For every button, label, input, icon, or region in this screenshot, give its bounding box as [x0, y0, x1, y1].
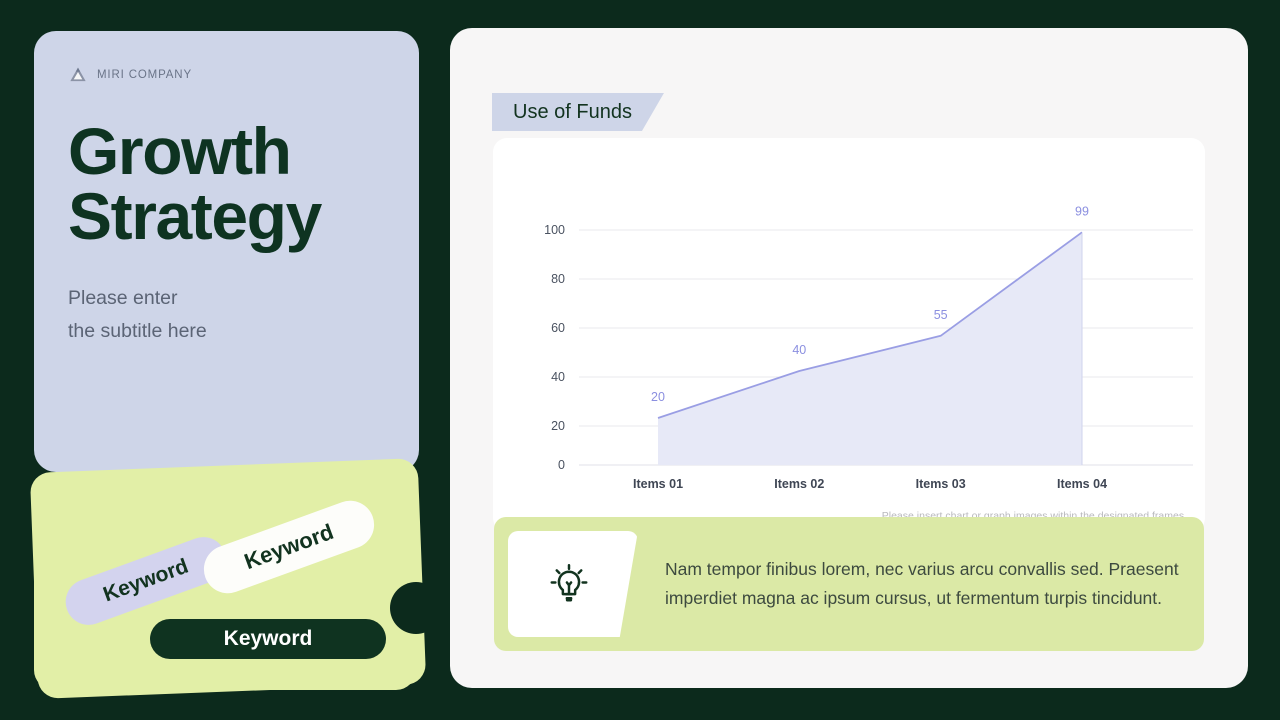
section-tag: Use of Funds [492, 93, 664, 131]
keyword-pill-dark[interactable]: Keyword [150, 619, 386, 659]
section-tag-label: Use of Funds [513, 101, 632, 124]
svg-text:Items 01: Items 01 [633, 477, 683, 491]
svg-text:20: 20 [651, 390, 665, 404]
area-chart[interactable]: 100 80 60 40 20 0 20 40 55 [493, 138, 1205, 532]
callout-icon-card [508, 531, 638, 637]
callout-text: Nam tempor finibus lorem, nec varius arc… [638, 517, 1204, 651]
svg-text:40: 40 [792, 343, 806, 357]
content-panel: Use of Funds 100 80 60 40 [450, 28, 1248, 688]
svg-text:40: 40 [551, 370, 565, 384]
keyword-pill-white[interactable]: Keyword [197, 494, 381, 600]
lightbulb-icon [546, 561, 592, 607]
triangle-logo-icon [68, 65, 88, 85]
chart-x-axis: Items 01 Items 02 Items 03 Items 04 [633, 477, 1107, 491]
svg-text:60: 60 [551, 321, 565, 335]
brand-row: MIRI COMPANY [68, 65, 385, 85]
page-title: Growth Strategy [68, 119, 385, 250]
svg-text:Items 04: Items 04 [1057, 477, 1107, 491]
svg-text:Items 02: Items 02 [774, 477, 824, 491]
chart-area-fill [658, 232, 1082, 465]
callout-box: Nam tempor finibus lorem, nec varius arc… [494, 517, 1204, 651]
svg-text:Items 03: Items 03 [916, 477, 966, 491]
page-title-line1: Growth [68, 114, 291, 188]
left-column: MIRI COMPANY Growth Strategy Please ente… [0, 0, 440, 720]
keyword-card: Keyword Keyword Keyword [34, 498, 416, 690]
svg-text:55: 55 [934, 308, 948, 322]
svg-text:99: 99 [1075, 204, 1089, 218]
svg-text:0: 0 [558, 458, 565, 472]
chart-y-axis: 100 80 60 40 20 0 [544, 223, 565, 472]
title-card: MIRI COMPANY Growth Strategy Please ente… [34, 31, 419, 472]
svg-text:100: 100 [544, 223, 565, 237]
brand-name: MIRI COMPANY [97, 69, 192, 81]
svg-text:80: 80 [551, 272, 565, 286]
page-subtitle-line1: Please enter [68, 287, 178, 309]
page-subtitle: Please enter the subtitle here [68, 282, 385, 349]
callout-icon-container [508, 531, 638, 637]
slide-root: MIRI COMPANY Growth Strategy Please ente… [0, 0, 1280, 720]
page-title-line2: Strategy [68, 184, 385, 249]
page-subtitle-line2: the subtitle here [68, 315, 385, 349]
card-notch-circle [390, 582, 442, 634]
svg-text:20: 20 [551, 419, 565, 433]
chart-frame: 100 80 60 40 20 0 20 40 55 [493, 138, 1205, 532]
